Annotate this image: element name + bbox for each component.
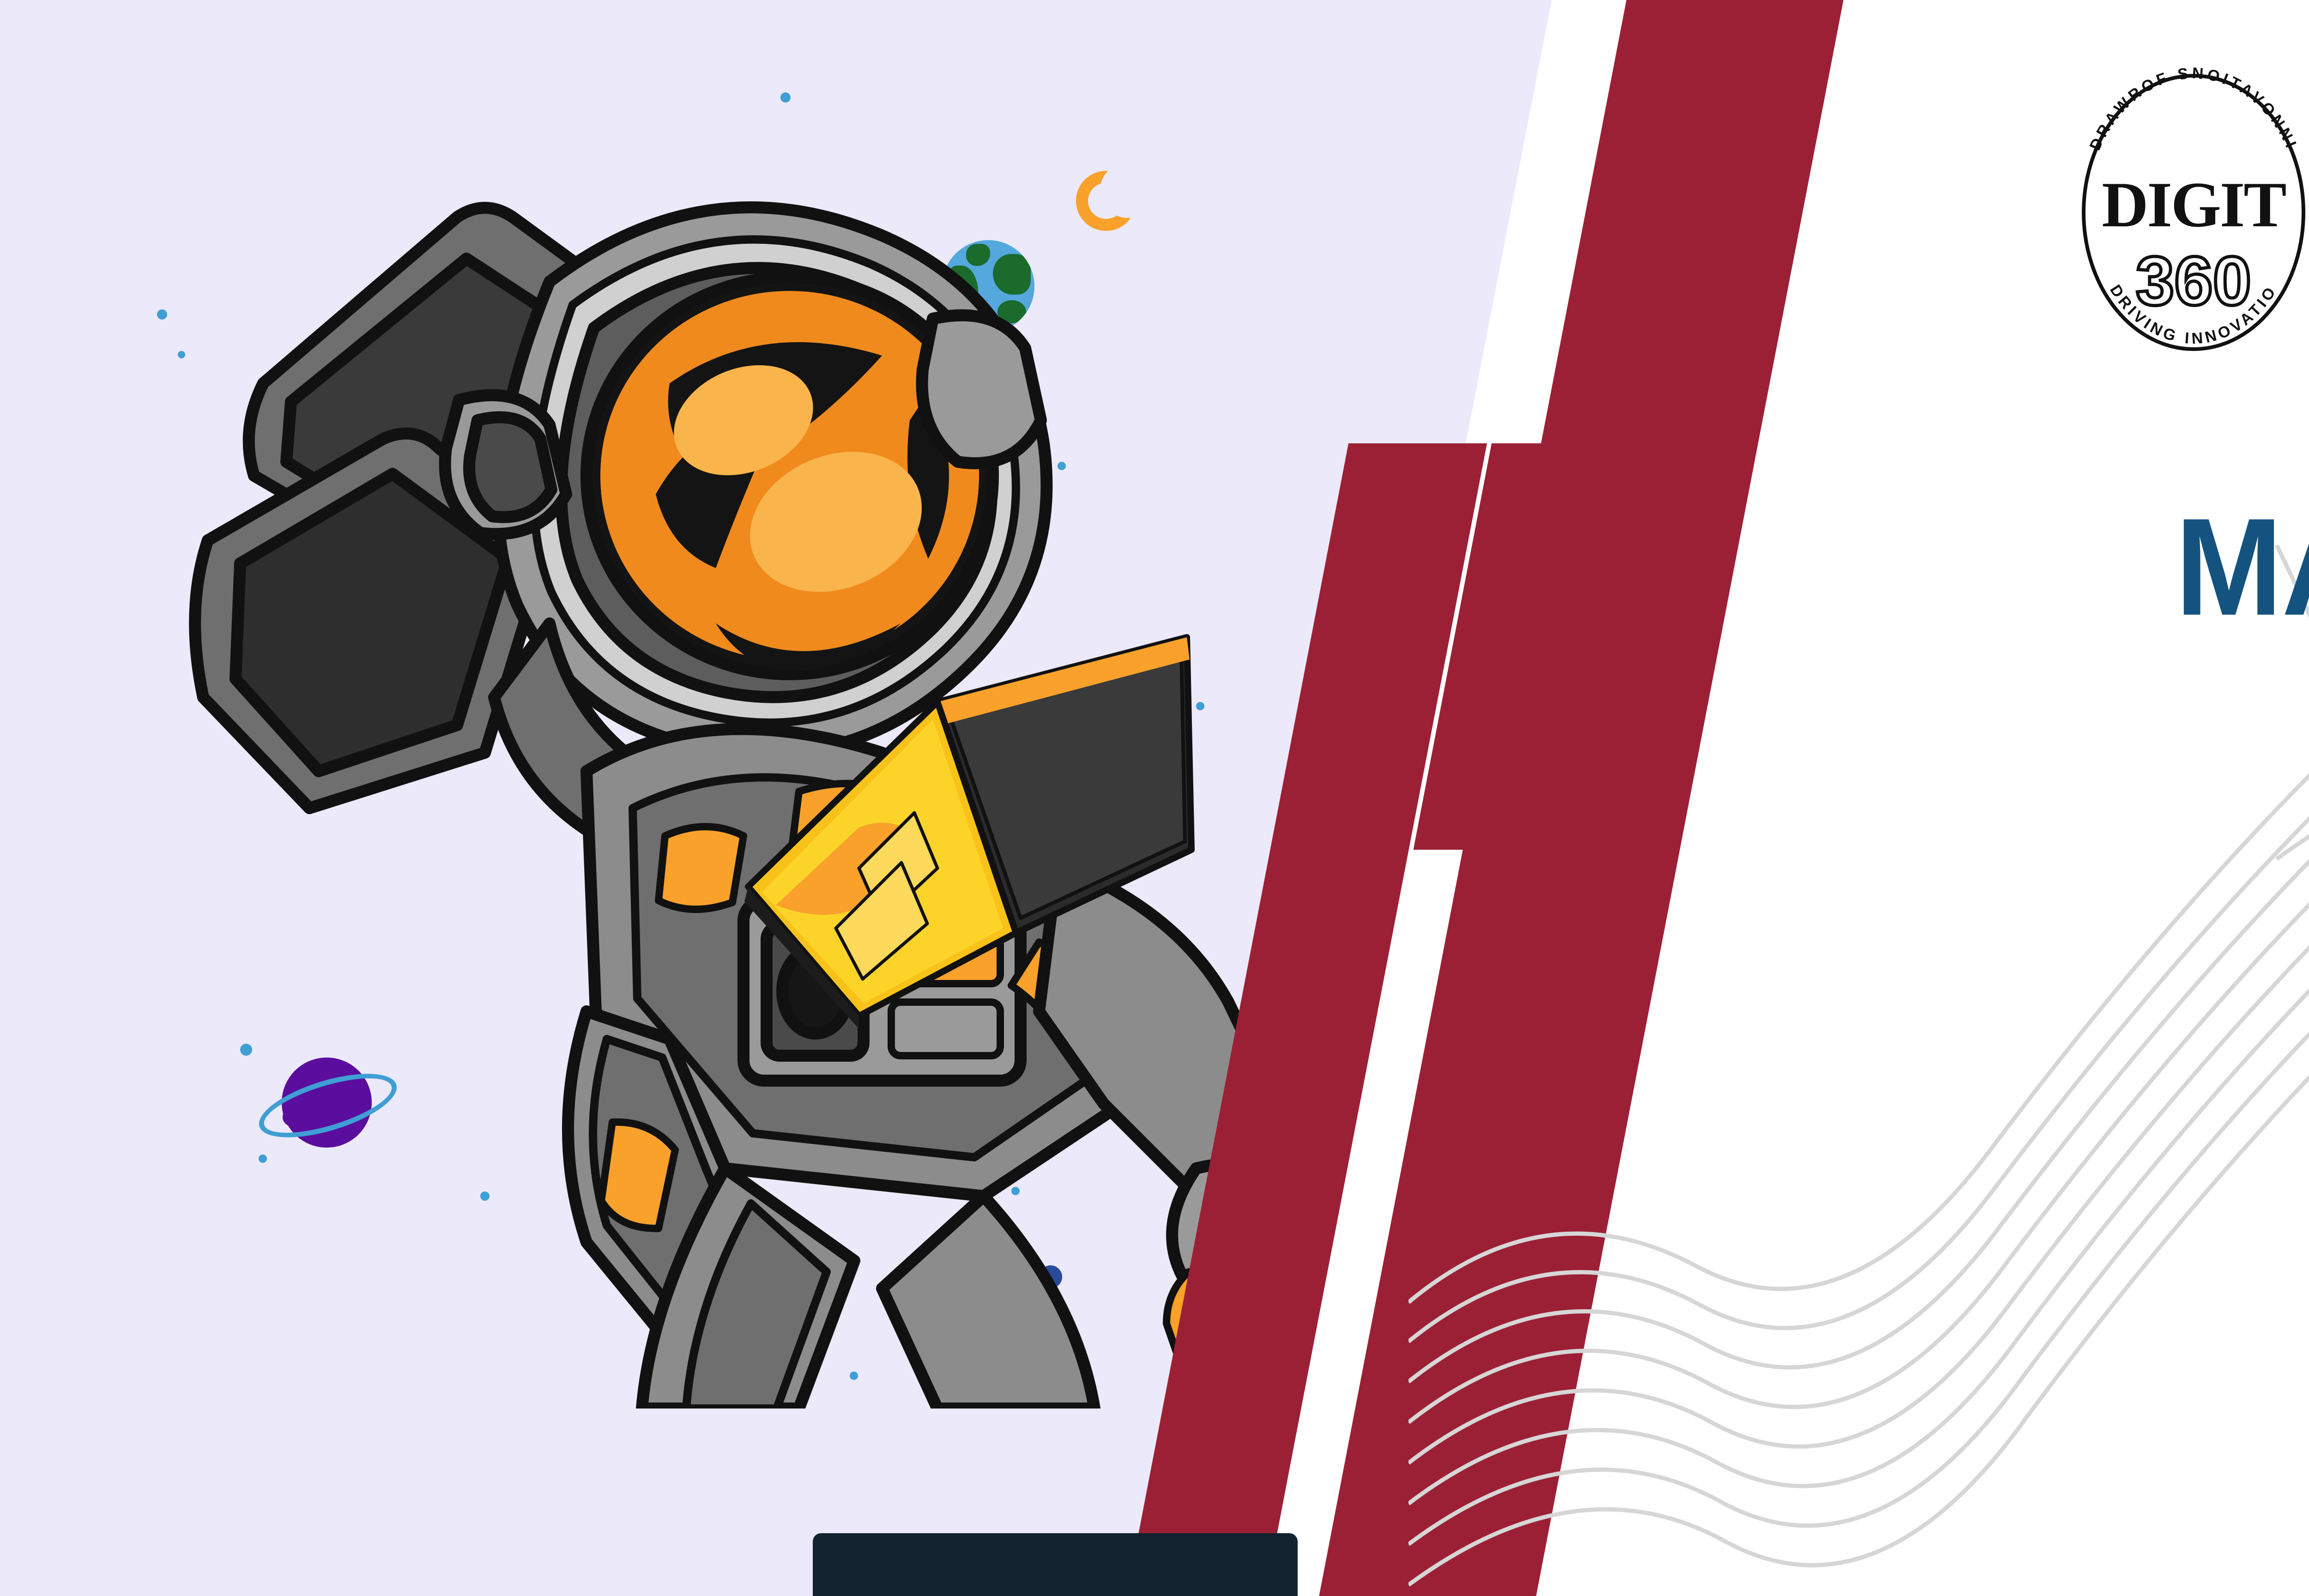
marketing-banner: DRAWROF SNOITAVONNI DRIVING INNOVATIO DI… — [0, 0, 2309, 1596]
headline-line-2: MANAGEMENT — [1300, 507, 2309, 626]
headline-line-1: EVENT — [1300, 388, 2309, 507]
logo-group: DRAWROF SNOITAVONNI DRIVING INNOVATIO DI… — [2055, 55, 2309, 369]
page-title: EVENT MANAGEMENT EXPERT — [1165, 388, 2309, 745]
digit360-seal-badge-icon[interactable]: DRAWROF SNOITAVONNI DRIVING INNOVATIO DI… — [2055, 60, 2309, 356]
contact-label: Contact us — [1834, 970, 2309, 1028]
headline-line-3: EXPERT — [1300, 626, 2309, 745]
badge-name-top: DIGIT — [2102, 169, 2286, 241]
star-dot — [780, 92, 791, 103]
navy-accent-bar — [813, 1533, 1298, 1596]
contact-email[interactable]: contact.digit360@gmail.com — [1834, 1028, 2309, 1086]
badge-name-bottom: 360 — [2136, 242, 2251, 320]
contact-block: Contact us contact.digit360@gmail.com +6… — [1696, 970, 2309, 1145]
contact-phone[interactable]: +6019 989 1306 — [1834, 1087, 2309, 1145]
